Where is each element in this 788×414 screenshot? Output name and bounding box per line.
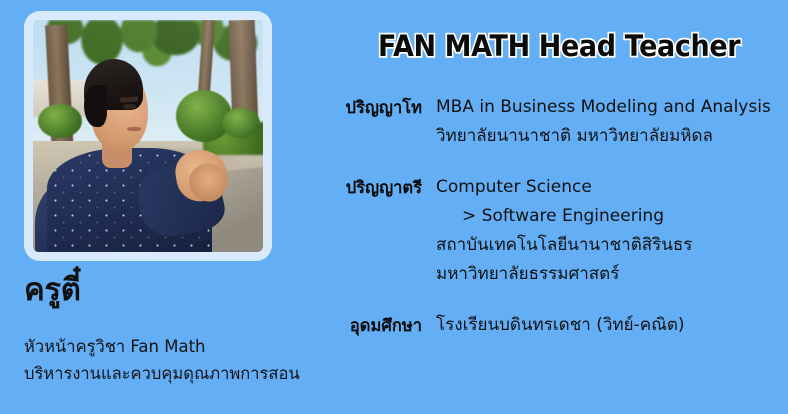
role-line: บริหารงานและควบคุมดุณภาพการสอน bbox=[24, 360, 300, 387]
teacher-profile-card: ครูตี๋ หัวหน้าครูวิชา Fan Math บริหารงาน… bbox=[0, 0, 788, 414]
education-value-line: โรงเรียนบดินทรเดชา (วิทย์-คณิต) bbox=[436, 311, 685, 340]
education-label: ปริญญาโท bbox=[330, 93, 422, 122]
profile-photo-frame bbox=[24, 11, 272, 261]
education-label: ปริญญาตรี bbox=[330, 173, 422, 202]
photo-person-hair-side bbox=[84, 85, 107, 127]
teacher-nickname: ครูตี๋ bbox=[24, 272, 81, 309]
teacher-role-lines: หัวหน้าครูวิชา Fan Math บริหารงานและควบค… bbox=[24, 333, 300, 387]
education-row-master: ปริญญาโท MBA in Business Modeling and An… bbox=[330, 93, 780, 151]
education-value-line: สถาบันเทคโนโลยีนานาชาติสิรินธร bbox=[436, 231, 692, 260]
education-list: ปริญญาโท MBA in Business Modeling and An… bbox=[330, 93, 780, 340]
education-row-highschool: อุดมศึกษา โรงเรียนบดินทรเดชา (วิทย์-คณิต… bbox=[330, 311, 780, 340]
photo-person-eyebrow bbox=[120, 96, 139, 102]
education-values: Computer Science > Software Engineering … bbox=[436, 173, 692, 289]
photo-shrub bbox=[222, 108, 260, 138]
photo-person-eye bbox=[123, 104, 137, 110]
page-title: FAN MATH Head Teacher bbox=[378, 29, 740, 63]
education-value-line: มหาวิทยาลัยธรรมศาสตร์ bbox=[436, 260, 692, 289]
education-value-line: วิทยาลัยนานาชาติ มหาวิทยาลัยมหิดล bbox=[436, 122, 771, 151]
education-row-bachelor: ปริญญาตรี Computer Science > Software En… bbox=[330, 173, 780, 289]
profile-photo bbox=[33, 20, 263, 252]
education-values: MBA in Business Modeling and Analysis วิ… bbox=[436, 93, 771, 151]
education-value-line: > Software Engineering bbox=[436, 202, 692, 231]
role-line: หัวหน้าครูวิชา Fan Math bbox=[24, 333, 300, 360]
education-value-line: MBA in Business Modeling and Analysis bbox=[436, 93, 771, 122]
education-label: อุดมศึกษา bbox=[330, 311, 422, 340]
education-value-line: Computer Science bbox=[436, 173, 692, 202]
education-values: โรงเรียนบดินทรเดชา (วิทย์-คณิต) bbox=[436, 311, 685, 340]
photo-shrub bbox=[38, 104, 82, 138]
